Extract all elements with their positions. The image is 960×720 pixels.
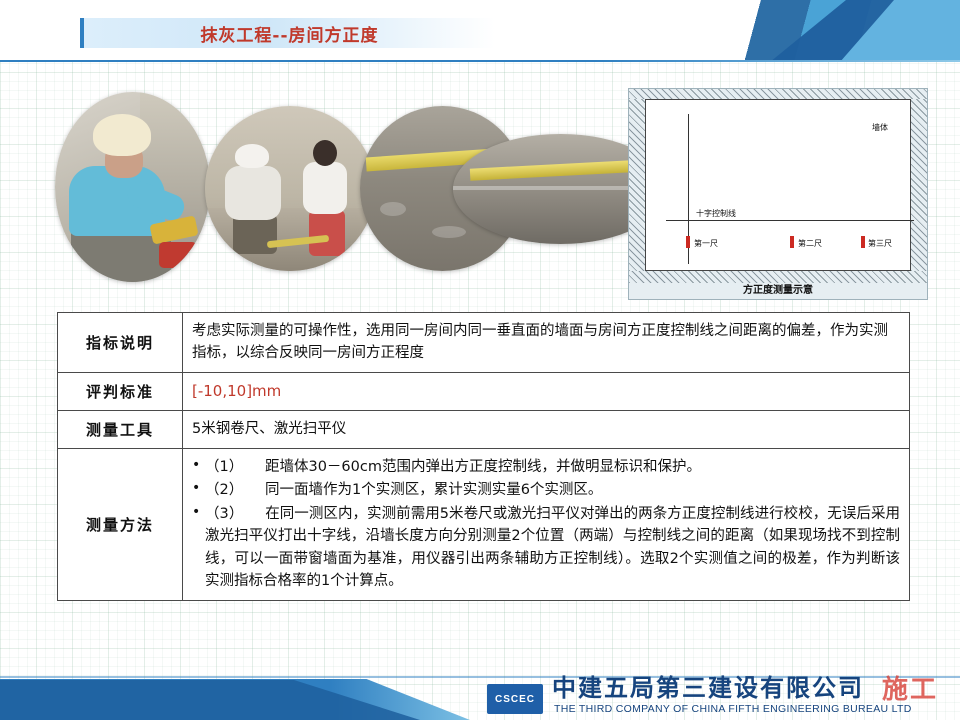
row-value-criteria: [-10,10]mm (183, 372, 910, 410)
table-row: 测量方法 （1） 距墙体30－60cm范围内弹出方正度控制线，并做明显标识和保护… (58, 448, 910, 601)
company-name-en: THE THIRD COMPANY OF CHINA FIFTH ENGINEE… (554, 703, 912, 715)
photo-two-workers-measuring (205, 106, 375, 271)
method-step: （2） 同一面墙作为1个实测区，累计实测实量6个实测区。 (192, 479, 900, 501)
method-step: （1） 距墙体30－60cm范围内弹出方正度控制线，并做明显标识和保护。 (192, 456, 900, 478)
table-row: 评判标准 [-10,10]mm (58, 372, 910, 410)
company-logo-icon: CSCEC (487, 684, 543, 714)
diagram-label-first: 第一尺 (694, 238, 718, 249)
diagram-horizontal-control-line (666, 220, 914, 221)
diagram-label-cross-line: 十字控制线 (696, 208, 736, 219)
diagram-label-third: 第三尺 (868, 238, 892, 249)
row-label-criteria: 评判标准 (58, 372, 183, 410)
diagram-hatch-top (629, 89, 927, 99)
diagram-caption: 方正度测量示意 (629, 281, 927, 296)
method-step: （3） 在同一测区内，实测前需用5米卷尺或激光扫平仪对弹出的两条方正度控制线进行… (192, 503, 900, 593)
diagram-marker-second (790, 236, 794, 248)
squareness-measurement-diagram: 墙体 十字控制线 第一尺 第二尺 第三尺 方正度测量示意 (628, 88, 928, 300)
header-divider (0, 60, 960, 62)
title-band: 抹灰工程--房间方正度 (80, 18, 495, 48)
diagram-marker-first (686, 236, 690, 248)
diagram-label-wall: 墙体 (872, 122, 888, 133)
row-value-tools: 5米钢卷尺、激光扫平仪 (183, 411, 910, 448)
slide-header: 抹灰工程--房间方正度 (0, 0, 960, 62)
specification-table: 指标说明 考虑实际测量的可操作性，选用同一房间内同一垂直面的墙面与房间方正度控制… (57, 312, 910, 601)
row-label-indicator-description: 指标说明 (58, 313, 183, 373)
row-label-tools: 测量工具 (58, 411, 183, 448)
company-name-cn: 中建五局第三建设有限公司 (552, 668, 864, 703)
diagram-label-second: 第二尺 (798, 238, 822, 249)
diagram-marker-third (861, 236, 865, 248)
slide-page: 抹灰工程--房间方正度 (0, 0, 960, 720)
diagram-hatch-left (629, 99, 645, 271)
page-title: 抹灰工程--房间方正度 (200, 21, 378, 46)
table-row: 测量工具 5米钢卷尺、激光扫平仪 (58, 411, 910, 448)
row-value-method: （1） 距墙体30－60cm范围内弹出方正度控制线，并做明显标识和保护。 （2）… (183, 448, 910, 601)
slide-footer: CSCEC 中建五局第三建设有限公司 THE THIRD COMPANY OF … (0, 670, 960, 720)
diagram-hatch-right (911, 99, 927, 271)
photo-worker-drilling (55, 92, 210, 282)
row-label-method: 测量方法 (58, 448, 183, 601)
diagram-room-outline: 墙体 十字控制线 第一尺 第二尺 第三尺 (645, 99, 911, 271)
watermark-text: 施工 (882, 669, 938, 706)
method-step-list: （1） 距墙体30－60cm范围内弹出方正度控制线，并做明显标识和保护。 （2）… (192, 456, 900, 593)
row-value-indicator-description: 考虑实际测量的可操作性，选用同一房间内同一垂直面的墙面与房间方正度控制线之间距离… (183, 313, 910, 373)
table-row: 指标说明 考虑实际测量的可操作性，选用同一房间内同一垂直面的墙面与房间方正度控制… (58, 313, 910, 373)
